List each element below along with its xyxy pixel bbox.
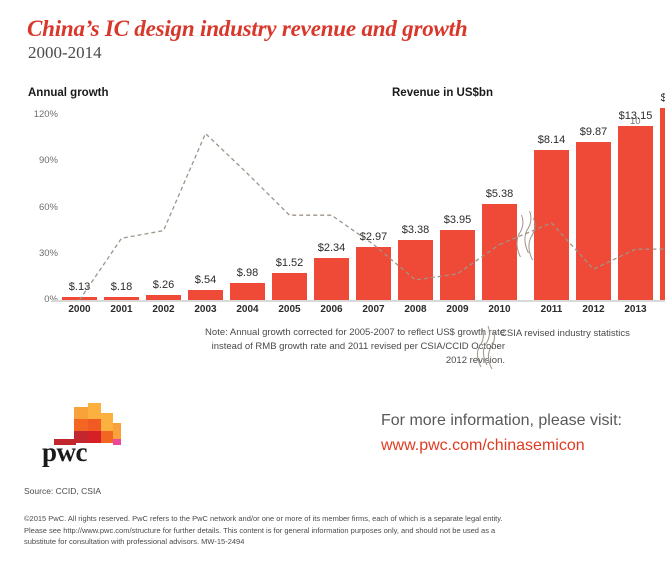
poster-page: China’s IC design industry revenue and g… xyxy=(0,0,665,564)
bar xyxy=(576,142,611,300)
x-axis-tick: 2011 xyxy=(529,304,574,315)
bar-value-label: $5.38 xyxy=(469,188,530,200)
logo-block xyxy=(74,407,88,419)
bar xyxy=(398,240,433,300)
bar-value-label: $3.95 xyxy=(427,214,488,226)
axis-break-legend-icon xyxy=(476,326,498,370)
logo-block xyxy=(88,431,101,443)
bar xyxy=(314,258,349,300)
bar-value-label: $2.34 xyxy=(301,242,362,254)
left-axis-tick: 30% xyxy=(18,248,58,259)
x-axis-tick: 2000 xyxy=(57,304,102,315)
left-axis-tick: 90% xyxy=(18,155,58,166)
bar-value-label: $13.15 xyxy=(605,110,665,122)
axis-baseline xyxy=(525,300,665,302)
axis-break-mark xyxy=(517,211,535,260)
logo-block xyxy=(74,419,88,431)
x-axis-tick: 2007 xyxy=(351,304,396,315)
bar xyxy=(534,150,569,300)
x-axis-tick: 2013 xyxy=(613,304,658,315)
pwc-wordmark: pwc xyxy=(42,437,87,468)
cta-text: For more information, please visit: xyxy=(381,412,622,430)
source-credit: Source: CCID, CSIA xyxy=(24,486,101,496)
axis-break-legend-label: CSIA revised industry statistics xyxy=(500,327,640,341)
x-axis-tick: 2001 xyxy=(99,304,144,315)
x-axis-tick: 2008 xyxy=(393,304,438,315)
chart-plot-area: 0%30%60%90%120%0510$.132000$.182001$.262… xyxy=(0,0,665,320)
bar xyxy=(440,230,475,300)
bar xyxy=(482,204,517,300)
pwc-website-link[interactable]: www.pwc.com/chinasemicon xyxy=(381,437,585,455)
x-axis-tick: 2014 xyxy=(655,304,665,315)
x-axis-tick: 2012 xyxy=(571,304,616,315)
logo-block xyxy=(101,431,113,443)
left-axis-tick: 120% xyxy=(18,109,58,120)
x-axis-tick: 2004 xyxy=(225,304,270,315)
bar xyxy=(62,297,97,300)
x-axis-tick: 2006 xyxy=(309,304,354,315)
logo-block xyxy=(88,403,101,419)
x-axis-tick: 2002 xyxy=(141,304,186,315)
x-axis-tick: 2009 xyxy=(435,304,480,315)
bar-value-label: $1.52 xyxy=(259,257,320,269)
chart-note: Note: Annual growth corrected for 2005-2… xyxy=(205,326,505,368)
bar-value-label: $17.05 xyxy=(647,92,665,104)
bar xyxy=(618,126,653,300)
copyright-text: ©2015 PwC. All rights reserved. PwC refe… xyxy=(24,513,524,548)
x-axis-tick: 2010 xyxy=(477,304,522,315)
bar xyxy=(146,295,181,300)
logo-block xyxy=(88,419,101,431)
left-axis-tick: 60% xyxy=(18,202,58,213)
bar xyxy=(188,290,223,300)
bar-value-label: $9.87 xyxy=(563,126,624,138)
bar xyxy=(356,247,391,300)
x-axis-tick: 2003 xyxy=(183,304,228,315)
x-axis-tick: 2005 xyxy=(267,304,312,315)
axis-baseline xyxy=(52,300,525,302)
logo-block xyxy=(113,439,121,445)
logo-block xyxy=(101,413,113,431)
bar xyxy=(660,108,665,300)
bar xyxy=(272,273,307,300)
bar xyxy=(230,283,265,300)
bar xyxy=(104,297,139,300)
